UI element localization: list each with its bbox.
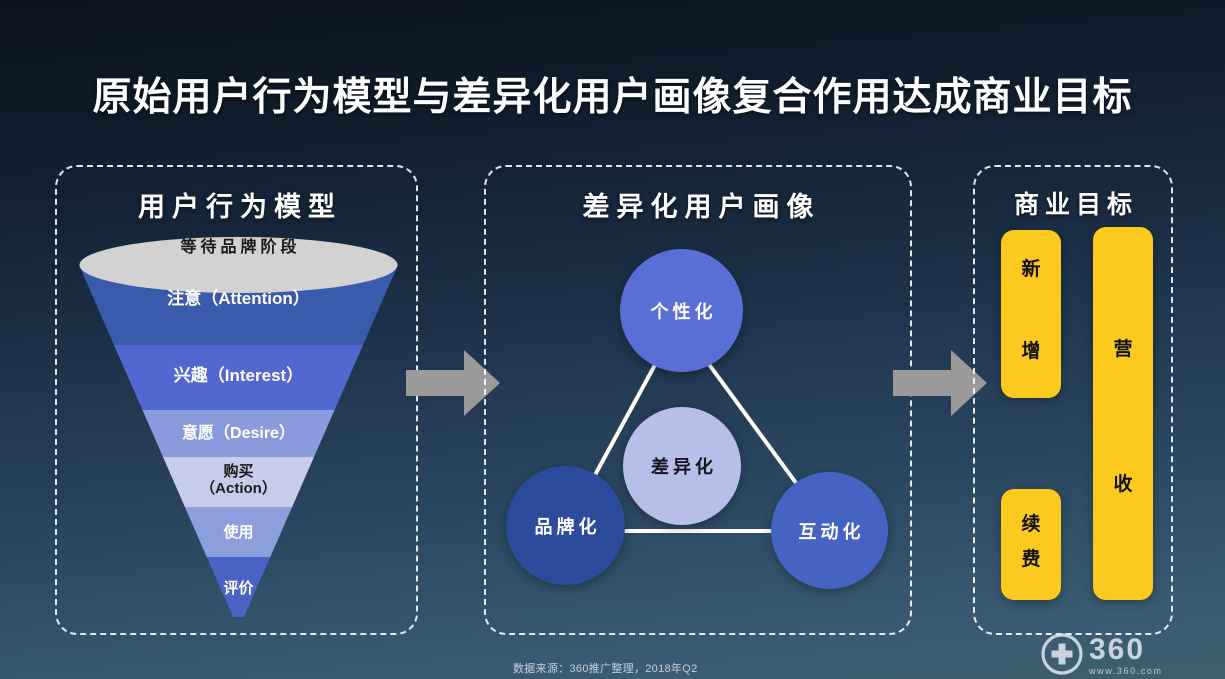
panel-user-behavior-model: 用户行为模型 等待 [55, 165, 418, 635]
funnel-chart: 等待品牌阶段 注意（Attention） 兴趣（Interest） 意愿（Des… [73, 229, 404, 619]
funnel-cap-ellipse [80, 237, 398, 293]
funnel-band-review [73, 557, 404, 619]
node-branding[interactable]: 品牌化 [506, 466, 625, 585]
funnel-band-action [73, 457, 404, 507]
slide-canvas: 原始用户行为模型与差异化用户画像复合作用达成商业目标 用户行为模型 [0, 0, 1225, 679]
panel-differentiated-persona: 差异化用户画像 个性化 差异化 品牌化 互动化 [484, 165, 912, 635]
panel-title-business-goals: 商业目标 [975, 185, 1171, 221]
node-differentiation[interactable]: 差异化 [623, 407, 741, 525]
funnel-band-desire [73, 410, 404, 457]
node-interaction[interactable]: 互动化 [771, 472, 888, 589]
logo-text-wrap: 360 www.360.com [1089, 636, 1163, 676]
persona-triangle-graph: 个性化 差异化 品牌化 互动化 [486, 167, 914, 637]
funnel-band-interest [73, 345, 404, 410]
panel-business-goals: 商业目标 新 增 续 费 营 收 [973, 165, 1173, 635]
bar-new-users-char2: 增 [1021, 336, 1040, 363]
funnel-bands [73, 259, 404, 619]
plus-circle-icon [1040, 632, 1084, 676]
bar-revenue[interactable]: 营 收 [1093, 227, 1153, 600]
bar-revenue-char1: 营 [1113, 334, 1132, 361]
funnel-band-usage [73, 507, 404, 557]
bar-new-users[interactable]: 新 增 [1001, 230, 1061, 398]
node-personalization[interactable]: 个性化 [620, 249, 743, 372]
logo-wordmark: 360 [1089, 636, 1145, 664]
funnel-svg [73, 229, 404, 619]
bar-new-users-char1: 新 [1021, 254, 1040, 281]
source-note: 数据来源：360推广整理，2018年Q2 [513, 660, 698, 676]
page-title: 原始用户行为模型与差异化用户画像复合作用达成商业目标 [0, 66, 1225, 122]
bar-renewal-char1: 续 [1021, 509, 1040, 536]
bar-renewal[interactable]: 续 费 [1001, 489, 1061, 600]
bar-renewal-char2: 费 [1021, 544, 1040, 571]
panel-title-user-behavior-model: 用户行为模型 [57, 185, 416, 224]
logo-360: 360 www.360.com [1040, 632, 1163, 676]
bar-revenue-char2: 收 [1113, 469, 1132, 496]
logo-url: www.360.com [1089, 666, 1163, 676]
